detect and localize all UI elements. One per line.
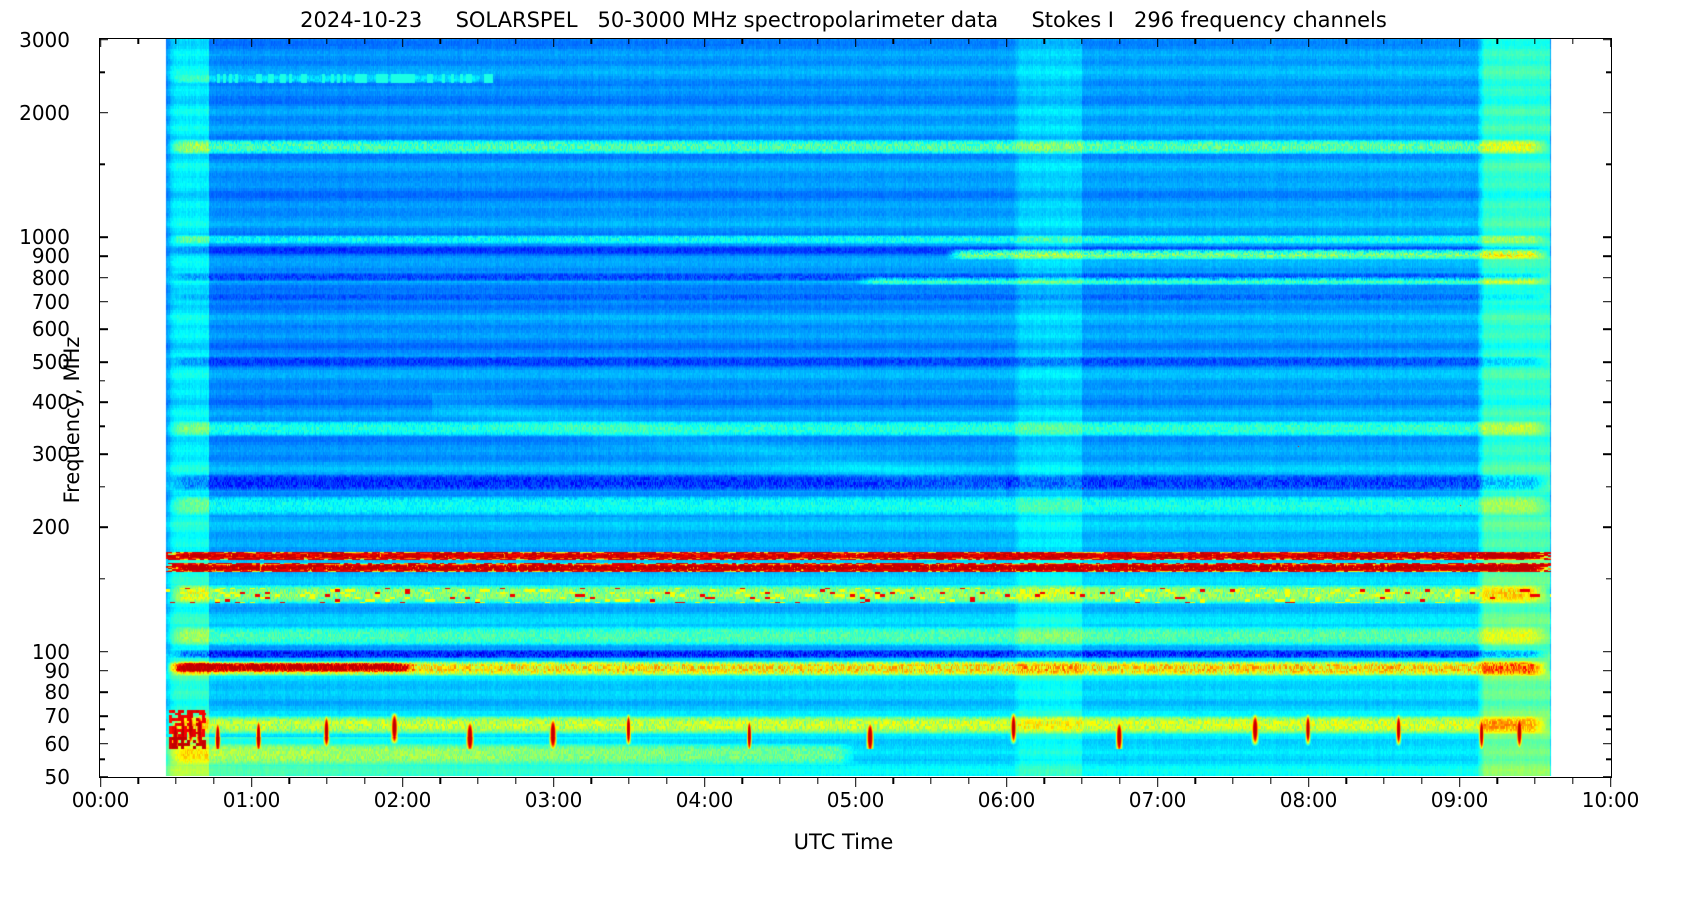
x-minor-tick-top [930,38,931,44]
x-minor-tick [1119,778,1120,784]
x-minor-tick-top [1497,38,1498,44]
y-minor-tick [99,486,105,487]
y-tick-label: 60 [45,732,70,756]
x-minor-tick [628,778,629,784]
y-axis-label: Frequency, MHz [60,300,84,540]
x-tick-mark-top [855,38,857,47]
x-tick-label: 09:00 [1431,788,1489,812]
x-minor-tick [1421,778,1422,784]
y-tick-mark-right [1603,401,1612,403]
y-tick-mark-right [1603,237,1612,239]
x-tick-mark-top [704,38,706,47]
y-tick-mark [99,256,108,258]
x-minor-tick [893,778,894,784]
x-tick-mark [704,778,706,787]
y-tick-mark-right [1603,112,1612,114]
y-tick-label: 80 [45,680,70,704]
y-minor-tick [99,759,105,760]
y-tick-mark [99,651,108,653]
y-tick-mark [99,277,108,279]
x-tick-label: 08:00 [1280,788,1338,812]
y-tick-mark-right [1603,715,1612,717]
y-minor-tick-right [1606,729,1612,730]
x-minor-tick-top [817,38,818,44]
x-minor-tick [1232,778,1233,784]
x-tick-mark-top [1459,38,1461,47]
x-minor-tick [1044,778,1045,784]
x-minor-tick-top [364,38,365,44]
y-tick-mark-right [1603,329,1612,331]
y-tick-label: 2000 [19,101,70,125]
x-minor-tick-top [666,38,667,44]
y-minor-tick-right [1606,486,1612,487]
x-tick-label: 00:00 [72,788,130,812]
x-minor-tick [1081,778,1082,784]
y-tick-mark [99,715,108,717]
x-minor-tick [779,778,780,784]
x-minor-tick [817,778,818,784]
x-minor-tick-top [893,38,894,44]
y-tick-label: 70 [45,704,70,728]
x-tick-label: 02:00 [374,788,432,812]
y-tick-mark-right [1603,277,1612,279]
x-minor-tick-top [440,38,441,44]
x-minor-tick-top [477,38,478,44]
x-tick-mark [855,778,857,787]
x-tick-label: 07:00 [1129,788,1187,812]
y-minor-tick-right [1606,578,1612,579]
x-tick-mark-top [1006,38,1008,47]
x-tick-mark-top [251,38,253,47]
x-minor-tick [213,778,214,784]
x-minor-tick-top [1421,38,1422,44]
y-tick-mark [99,329,108,331]
x-tick-mark-top [553,38,555,47]
dynamic-spectrum-figure: 2024-10-23 SOLARSPEL 50-3000 MHz spectro… [0,0,1687,906]
x-tick-mark [1610,778,1612,787]
x-minor-tick [591,778,592,784]
y-tick-mark-right [1603,651,1612,653]
x-tick-label: 10:00 [1582,788,1640,812]
y-minor-tick-right [1606,380,1612,381]
x-tick-mark-top [1308,38,1310,47]
x-tick-mark [553,778,555,787]
y-tick-mark [99,361,108,363]
x-minor-tick-top [591,38,592,44]
x-minor-tick-top [1119,38,1120,44]
y-minor-tick [99,380,105,381]
x-minor-tick-top [289,38,290,44]
x-tick-mark [1459,778,1461,787]
x-tick-mark-top [1157,38,1159,47]
x-axis-label: UTC Time [0,830,1687,854]
x-tick-mark [100,778,102,787]
x-tick-label: 05:00 [827,788,885,812]
y-tick-label: 800 [32,266,70,290]
x-minor-tick [1383,778,1384,784]
x-minor-tick-top [742,38,743,44]
x-minor-tick-top [1081,38,1082,44]
plot-frame [99,38,1612,778]
y-tick-mark [99,453,108,455]
y-tick-mark-right [1603,743,1612,745]
x-tick-label: 03:00 [525,788,583,812]
y-minor-tick [99,164,105,165]
x-tick-mark [251,778,253,787]
y-tick-mark-right [1603,256,1612,258]
x-tick-label: 04:00 [676,788,734,812]
y-tick-mark [99,743,108,745]
x-tick-mark [1308,778,1310,787]
x-minor-tick [175,778,176,784]
x-minor-tick-top [138,38,139,44]
x-minor-tick [1572,778,1573,784]
x-minor-tick [515,778,516,784]
x-minor-tick-top [326,38,327,44]
x-tick-label: 01:00 [223,788,281,812]
x-minor-tick [1534,778,1535,784]
y-tick-mark-right [1603,526,1612,528]
x-minor-tick-top [1572,38,1573,44]
y-minor-tick-right [1606,164,1612,165]
y-minor-tick [99,729,105,730]
x-minor-tick [930,778,931,784]
x-minor-tick-top [1270,38,1271,44]
y-minor-tick [99,72,105,73]
y-minor-tick [99,578,105,579]
y-tick-mark [99,301,108,303]
x-minor-tick [666,778,667,784]
x-minor-tick-top [779,38,780,44]
y-tick-mark [99,237,108,239]
y-minor-tick-right [1606,72,1612,73]
x-tick-mark-top [1610,38,1612,47]
y-tick-mark-right [1603,361,1612,363]
y-minor-tick-right [1606,759,1612,760]
y-tick-mark [99,526,108,528]
x-minor-tick-top [628,38,629,44]
x-minor-tick-top [213,38,214,44]
y-tick-label: 50 [45,765,70,789]
y-minor-tick-right [1606,426,1612,427]
x-tick-mark [402,778,404,787]
x-tick-mark [1006,778,1008,787]
y-tick-mark [99,670,108,672]
x-minor-tick [742,778,743,784]
x-minor-tick [968,778,969,784]
spectrogram-image [100,39,1610,776]
y-tick-mark-right [1603,301,1612,303]
x-minor-tick-top [1232,38,1233,44]
y-tick-mark-right [1603,453,1612,455]
x-minor-tick [138,778,139,784]
x-minor-tick [289,778,290,784]
x-minor-tick [477,778,478,784]
x-minor-tick-top [968,38,969,44]
y-tick-mark-right [1603,670,1612,672]
x-minor-tick [1497,778,1498,784]
y-tick-mark-right [1603,691,1612,693]
figure-title: 2024-10-23 SOLARSPEL 50-3000 MHz spectro… [0,8,1687,32]
x-minor-tick-top [175,38,176,44]
x-tick-label: 06:00 [978,788,1036,812]
x-minor-tick-top [1383,38,1384,44]
x-tick-mark [1157,778,1159,787]
x-minor-tick [1270,778,1271,784]
x-tick-mark-top [100,38,102,47]
x-minor-tick-top [1346,38,1347,44]
y-tick-mark [99,691,108,693]
x-minor-tick-top [515,38,516,44]
y-tick-mark [99,112,108,114]
x-minor-tick [1195,778,1196,784]
y-tick-label: 3000 [19,28,70,52]
x-minor-tick-top [1534,38,1535,44]
x-minor-tick [440,778,441,784]
x-minor-tick [364,778,365,784]
x-minor-tick-top [1044,38,1045,44]
x-minor-tick [326,778,327,784]
x-minor-tick-top [1195,38,1196,44]
y-tick-mark [99,401,108,403]
x-tick-mark-top [402,38,404,47]
x-minor-tick [1346,778,1347,784]
y-minor-tick [99,426,105,427]
